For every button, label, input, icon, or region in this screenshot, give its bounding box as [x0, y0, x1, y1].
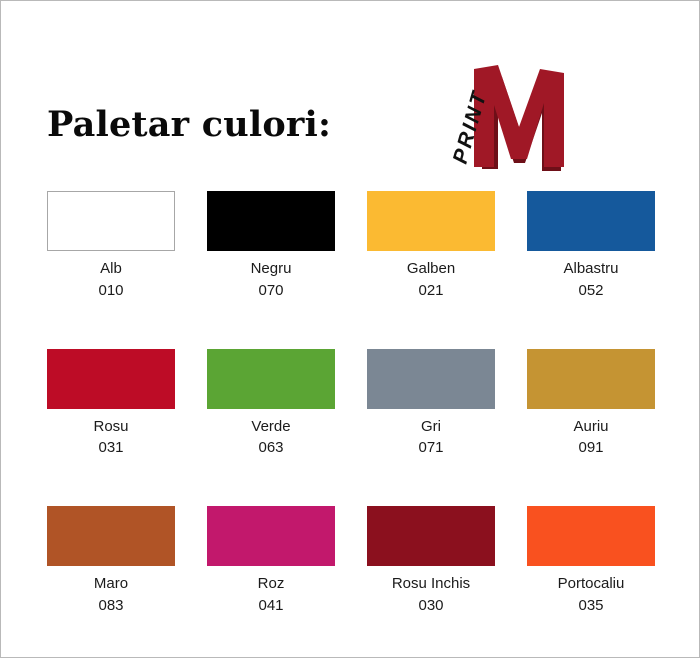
swatch-code: 070 — [207, 280, 335, 302]
swatch-row: Maro 083 Roz 041 Rosu Inchis 030 Portoca… — [47, 506, 655, 617]
swatch-code: 041 — [207, 595, 335, 617]
swatch-cell-roz[interactable]: Roz 041 — [207, 506, 335, 617]
swatch-name: Verde — [207, 416, 335, 438]
color-chip[interactable] — [367, 349, 495, 409]
swatch-name: Rosu — [47, 416, 175, 438]
swatch-code: 030 — [367, 595, 495, 617]
swatch-cell-alb[interactable]: Alb 010 — [47, 191, 175, 302]
color-chip[interactable] — [207, 191, 335, 251]
swatch-name: Alb — [47, 258, 175, 280]
swatch-cell-verde[interactable]: Verde 063 — [207, 349, 335, 460]
color-palette-page: Paletar culori: PRINT Alb — [0, 0, 700, 658]
swatch-code: 083 — [47, 595, 175, 617]
swatch-code: 091 — [527, 437, 655, 459]
swatch-name: Maro — [47, 573, 175, 595]
swatch-cell-portocaliu[interactable]: Portocaliu 035 — [527, 506, 655, 617]
swatch-code: 031 — [47, 437, 175, 459]
color-chip[interactable] — [47, 191, 175, 251]
swatch-name: Negru — [207, 258, 335, 280]
color-chip[interactable] — [207, 349, 335, 409]
swatch-cell-negru[interactable]: Negru 070 — [207, 191, 335, 302]
header: Paletar culori: PRINT — [1, 19, 700, 179]
swatch-row: Alb 010 Negru 070 Galben 021 Albastru 05… — [47, 191, 655, 302]
swatch-name: Auriu — [527, 416, 655, 438]
color-chip[interactable] — [367, 506, 495, 566]
brand-logo: PRINT — [426, 41, 576, 191]
swatch-cell-rosu-inchis[interactable]: Rosu Inchis 030 — [367, 506, 495, 617]
swatch-cell-galben[interactable]: Galben 021 — [367, 191, 495, 302]
color-chip[interactable] — [527, 506, 655, 566]
swatch-name: Gri — [367, 416, 495, 438]
swatch-cell-auriu[interactable]: Auriu 091 — [527, 349, 655, 460]
color-chip[interactable] — [47, 349, 175, 409]
color-chip[interactable] — [527, 191, 655, 251]
logo-letter-m — [474, 65, 564, 167]
swatch-code: 035 — [527, 595, 655, 617]
swatch-cell-albastru[interactable]: Albastru 052 — [527, 191, 655, 302]
swatch-code: 071 — [367, 437, 495, 459]
swatch-name: Portocaliu — [527, 573, 655, 595]
swatch-row: Rosu 031 Verde 063 Gri 071 Auriu 091 — [47, 349, 655, 460]
color-chip[interactable] — [47, 506, 175, 566]
swatch-name: Albastru — [527, 258, 655, 280]
swatch-name: Galben — [367, 258, 495, 280]
swatch-grid: Alb 010 Negru 070 Galben 021 Albastru 05… — [47, 191, 655, 617]
color-chip[interactable] — [367, 191, 495, 251]
swatch-name: Roz — [207, 573, 335, 595]
logo-graphic: PRINT — [426, 41, 576, 191]
swatch-code: 063 — [207, 437, 335, 459]
swatch-code: 021 — [367, 280, 495, 302]
swatch-cell-gri[interactable]: Gri 071 — [367, 349, 495, 460]
swatch-name: Rosu Inchis — [367, 573, 495, 595]
swatch-cell-maro[interactable]: Maro 083 — [47, 506, 175, 617]
color-chip[interactable] — [207, 506, 335, 566]
swatch-code: 010 — [47, 280, 175, 302]
swatch-code: 052 — [527, 280, 655, 302]
page-title: Paletar culori: — [47, 107, 331, 142]
color-chip[interactable] — [527, 349, 655, 409]
swatch-cell-rosu[interactable]: Rosu 031 — [47, 349, 175, 460]
